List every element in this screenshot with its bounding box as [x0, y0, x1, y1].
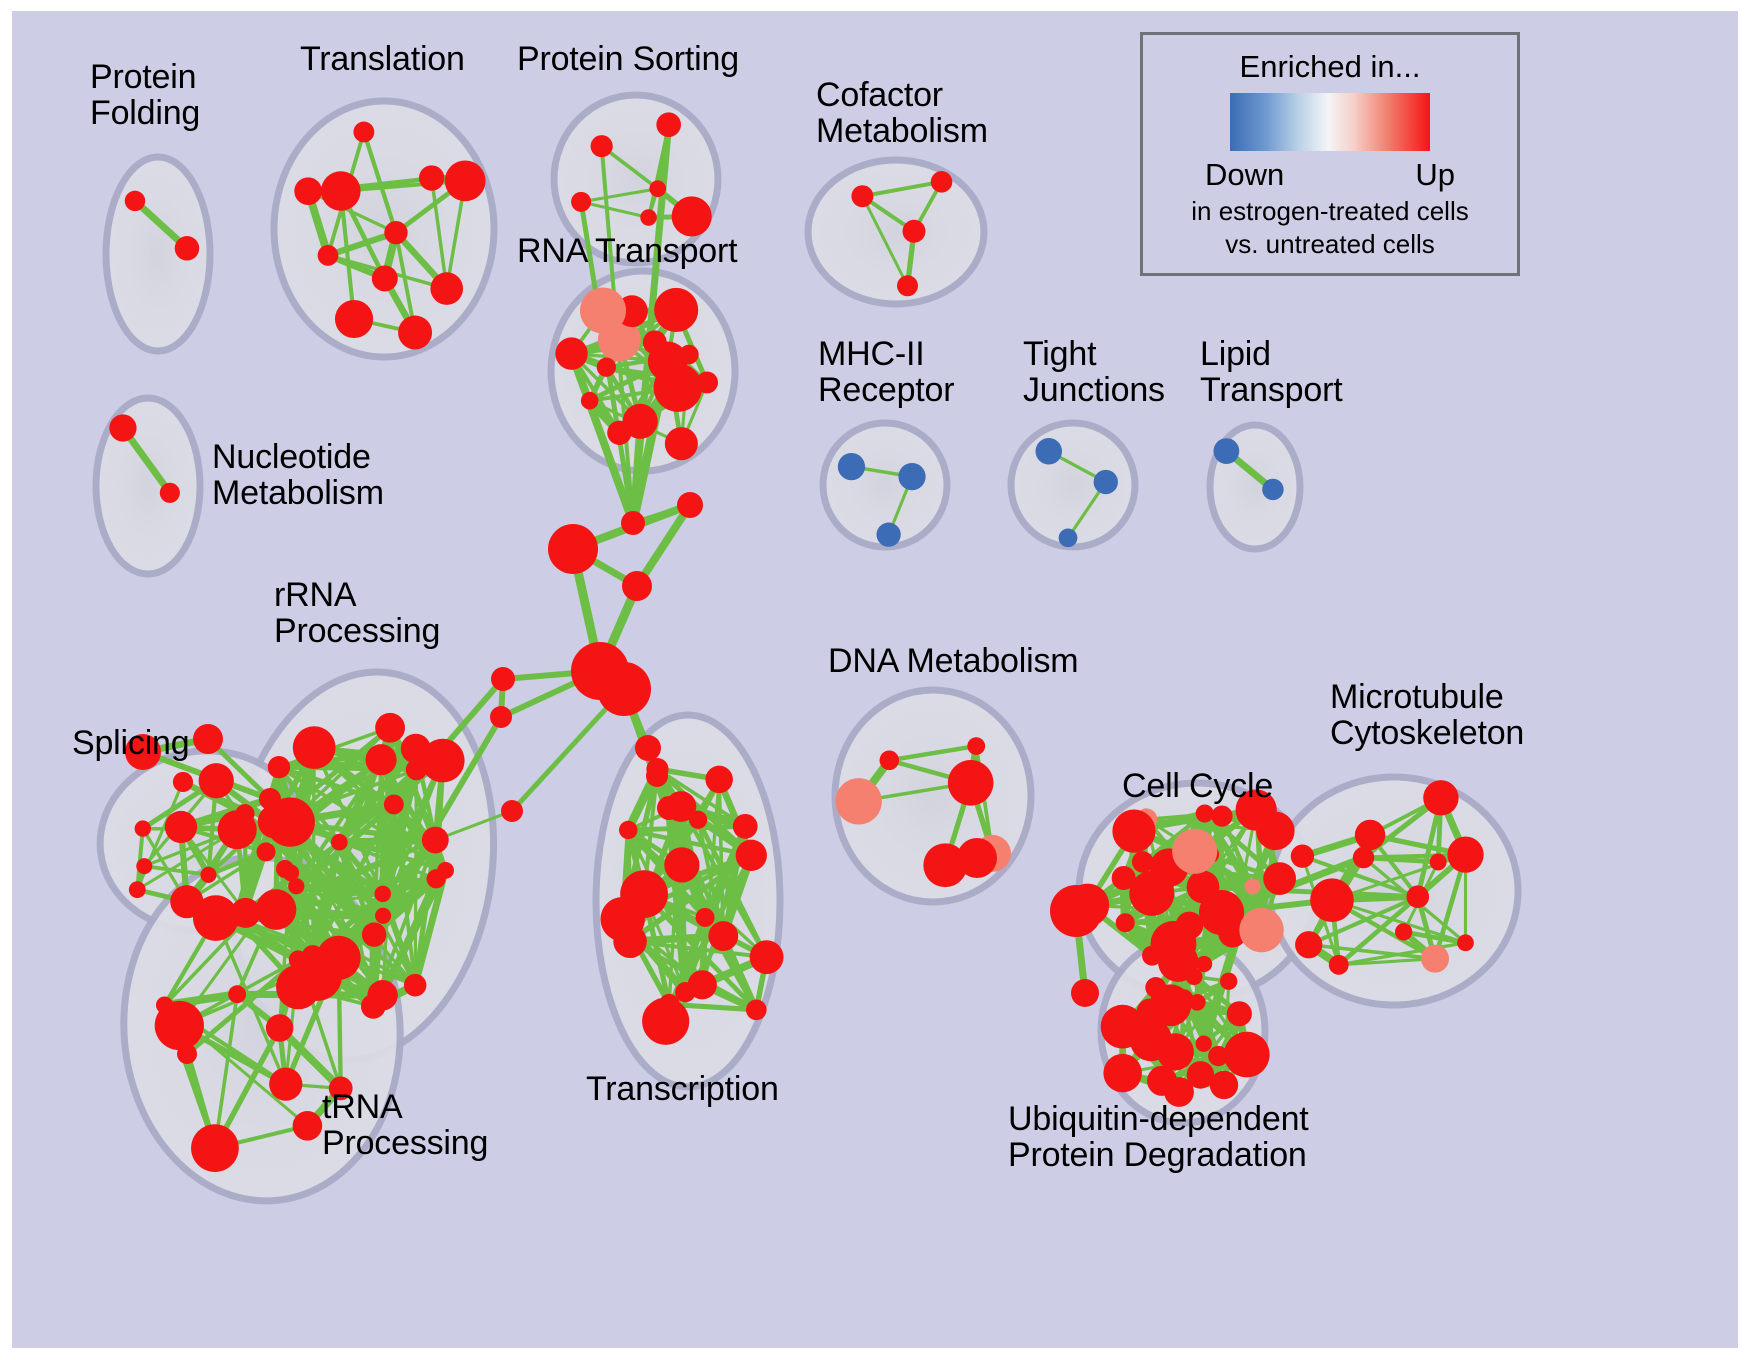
network-node — [321, 171, 361, 211]
network-node — [384, 221, 407, 244]
network-node — [591, 135, 613, 157]
network-node — [1423, 780, 1458, 815]
network-node — [191, 1124, 239, 1172]
network-node — [109, 414, 136, 441]
network-node — [1174, 989, 1194, 1009]
cluster-label-mhc-ii-receptor: MHC-II Receptor — [818, 336, 954, 408]
network-node — [266, 1014, 294, 1042]
cluster-label-cofactor-metabolism: Cofactor Metabolism — [816, 77, 988, 149]
network-node — [268, 756, 290, 778]
network-node — [1059, 529, 1078, 548]
network-node — [835, 778, 881, 824]
network-node — [622, 571, 652, 601]
cluster-label-protein-sorting: Protein Sorting — [517, 41, 739, 77]
cluster-label-nucleotide-metabolism: Nucleotide Metabolism — [212, 439, 384, 511]
cluster-label-translation: Translation — [300, 41, 465, 77]
cluster-label-trna-processing: tRNA Processing — [322, 1089, 488, 1161]
network-node — [1132, 851, 1154, 873]
network-node — [750, 940, 784, 974]
cluster-blob-translation — [274, 101, 494, 357]
network-node — [269, 1068, 302, 1101]
network-node — [1103, 1054, 1142, 1093]
cluster-label-cell-cycle: Cell Cycle — [1122, 768, 1273, 804]
cluster-label-tight-junctions: Tight Junctions — [1023, 336, 1165, 408]
network-node — [657, 796, 681, 820]
network-node — [621, 511, 645, 535]
network-node — [1172, 829, 1217, 874]
network-node — [430, 272, 463, 305]
network-node — [374, 886, 391, 903]
network-node — [259, 810, 277, 828]
network-node — [1395, 923, 1412, 940]
network-node — [1310, 878, 1354, 922]
network-node — [1036, 438, 1063, 465]
network-node — [649, 180, 666, 197]
network-node — [129, 881, 146, 898]
network-node — [1245, 878, 1261, 894]
network-node — [1421, 945, 1449, 973]
cluster-label-rna-transport: RNA Transport — [517, 233, 737, 269]
network-node — [555, 337, 587, 369]
network-node — [156, 996, 173, 1013]
network-node — [256, 842, 275, 861]
network-node — [597, 358, 616, 377]
network-node — [880, 751, 900, 771]
network-node — [1145, 977, 1166, 998]
network-node — [1295, 931, 1322, 958]
network-node — [1211, 805, 1232, 826]
network-node — [1430, 853, 1447, 870]
cluster-label-microtubule-cytoskeleton: Microtubule Cytoskeleton — [1330, 679, 1524, 751]
network-node — [1112, 866, 1136, 890]
network-node — [1291, 845, 1314, 868]
network-node — [335, 300, 373, 338]
cluster-label-ubiquitin-protein-degradation: Ubiquitin-dependent Protein Degradation — [1008, 1101, 1309, 1173]
network-node — [705, 766, 732, 793]
network-node — [398, 316, 432, 350]
network-node — [656, 112, 681, 137]
legend-caption-line-1: in estrogen-treated cells — [1191, 197, 1468, 226]
network-node — [256, 889, 297, 930]
network-node — [289, 950, 308, 969]
network-node — [665, 427, 698, 460]
network-node — [967, 737, 985, 755]
network-node — [200, 867, 216, 883]
network-node — [571, 192, 591, 212]
network-node — [1094, 470, 1118, 494]
network-node — [361, 994, 386, 1019]
legend-title: Enriched in... — [1240, 49, 1421, 85]
network-node — [957, 838, 997, 878]
network-node — [851, 185, 873, 207]
network-node — [173, 772, 193, 792]
network-node — [931, 171, 953, 193]
network-node — [548, 524, 598, 574]
network-node — [688, 970, 717, 999]
network-node — [366, 744, 397, 775]
network-node — [654, 363, 703, 412]
network-node — [228, 985, 246, 1003]
network-node — [331, 834, 348, 851]
network-node — [1158, 942, 1198, 982]
network-canvas: Protein FoldingTranslationProtein Sortin… — [12, 11, 1738, 1348]
network-node — [1214, 438, 1240, 464]
network-node — [672, 196, 712, 236]
network-node — [619, 821, 637, 839]
cluster-label-lipid-transport: Lipid Transport — [1200, 336, 1342, 408]
network-node — [746, 999, 767, 1020]
cluster-label-protein-folding: Protein Folding — [90, 59, 200, 131]
network-node — [664, 847, 699, 882]
network-node — [422, 827, 449, 854]
network-node — [276, 965, 321, 1010]
network-node — [317, 936, 361, 980]
network-node — [125, 191, 145, 211]
network-node — [501, 800, 523, 822]
network-node — [404, 974, 427, 997]
network-node — [635, 735, 661, 761]
network-node — [1355, 820, 1385, 850]
network-node — [733, 814, 758, 839]
legend-caption-line-2: vs. untreated cells — [1225, 230, 1435, 259]
network-node — [1196, 804, 1214, 822]
network-node — [1406, 885, 1429, 908]
network-node — [491, 667, 515, 691]
network-node — [199, 763, 234, 798]
network-node — [696, 372, 718, 394]
network-node — [679, 345, 699, 365]
network-node — [897, 275, 918, 296]
network-node — [318, 245, 339, 266]
legend-panel: Enriched in... Down Up in estrogen-treat… — [1140, 32, 1520, 276]
network-node — [490, 706, 512, 728]
network-node — [445, 160, 486, 201]
network-node — [600, 897, 644, 941]
network-node — [597, 662, 651, 716]
network-node — [372, 265, 398, 291]
network-node — [1227, 1001, 1252, 1026]
network-node — [1071, 979, 1099, 1007]
network-node — [235, 804, 254, 823]
network-node — [401, 734, 431, 764]
network-node — [581, 392, 599, 410]
network-node — [1263, 862, 1296, 895]
network-node — [1116, 913, 1135, 932]
figure-root: Protein FoldingTranslationProtein Sortin… — [0, 0, 1750, 1360]
network-node — [643, 330, 667, 354]
network-node — [948, 760, 994, 806]
network-node — [708, 921, 738, 951]
network-node — [384, 794, 404, 814]
cluster-label-splicing: Splicing — [72, 725, 189, 761]
network-node — [193, 724, 223, 754]
network-node — [1050, 885, 1102, 937]
network-edge — [313, 748, 314, 956]
legend-low-label: Down — [1205, 157, 1284, 193]
network-node — [177, 1044, 197, 1064]
network-node — [353, 122, 374, 143]
network-node — [1112, 810, 1155, 853]
network-node — [903, 220, 926, 243]
network-node — [654, 288, 698, 332]
network-node — [640, 209, 657, 226]
network-node — [437, 862, 454, 879]
network-node — [1447, 837, 1483, 873]
network-node — [419, 165, 444, 190]
network-node — [607, 421, 631, 445]
network-node — [165, 811, 197, 843]
network-node — [375, 908, 391, 924]
network-node — [293, 726, 336, 769]
network-node — [294, 177, 322, 205]
legend-endpoint-labels: Down Up — [1205, 157, 1455, 193]
network-node — [1239, 908, 1283, 952]
network-node — [1224, 1032, 1270, 1078]
network-node — [175, 236, 199, 260]
network-node — [1220, 973, 1237, 990]
cluster-label-transcription: Transcription — [586, 1071, 779, 1107]
network-node — [1262, 479, 1283, 500]
network-node — [736, 840, 767, 871]
network-node — [193, 895, 239, 941]
network-node — [1129, 871, 1174, 916]
network-node — [1457, 934, 1474, 951]
network-node — [642, 998, 689, 1045]
network-node — [876, 523, 900, 547]
network-node — [646, 765, 668, 787]
network-node — [135, 820, 151, 836]
legend-color-gradient — [1230, 93, 1430, 151]
network-node — [696, 908, 715, 927]
network-node — [276, 860, 294, 878]
network-node — [1101, 1005, 1145, 1049]
cluster-label-rrna-processing: rRNA Processing — [274, 577, 440, 649]
cluster-blob-cofactor-metabolism — [808, 160, 984, 304]
network-node — [838, 453, 865, 480]
network-node — [362, 922, 386, 946]
network-node — [898, 463, 925, 490]
network-node — [160, 483, 180, 503]
network-node — [1329, 955, 1349, 975]
legend-high-label: Up — [1415, 157, 1455, 193]
network-node — [1210, 1071, 1238, 1099]
network-node — [677, 492, 703, 518]
network-node — [259, 788, 281, 810]
cluster-label-dna-metabolism: DNA Metabolism — [828, 643, 1078, 679]
network-node — [375, 713, 405, 743]
network-node — [1196, 1035, 1212, 1051]
network-node — [136, 858, 152, 874]
network-node — [580, 288, 626, 334]
network-node — [293, 1111, 323, 1141]
